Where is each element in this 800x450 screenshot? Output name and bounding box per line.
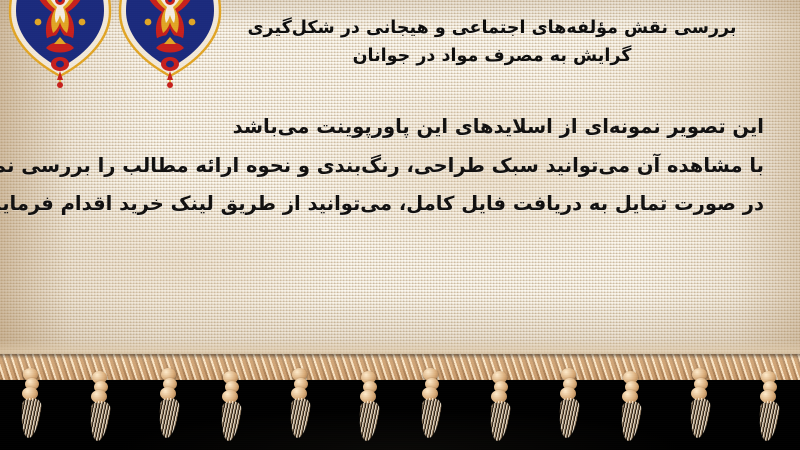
fringe-rope-band xyxy=(0,354,800,380)
slide-body-text: این تصویر نمونه‌ای از اسلایدهای این پاور… xyxy=(24,108,764,224)
fringe-tassel xyxy=(214,361,248,443)
tassel-tail xyxy=(219,400,242,442)
fringe-tassel xyxy=(752,361,786,443)
fringe-tassel xyxy=(152,358,186,440)
fringe-tassel xyxy=(414,358,448,440)
slide-title: بررسی نقش مؤلفه‌های اجتماعی و هیجانی در … xyxy=(222,14,762,71)
tassel-tail xyxy=(688,397,711,439)
tassel-tail xyxy=(557,397,580,439)
fringe-tassel xyxy=(614,361,648,443)
tassel-tail xyxy=(757,400,780,442)
tassel-tail xyxy=(88,400,111,442)
slide-title-line-1: بررسی نقش مؤلفه‌های اجتماعی و هیجانی در … xyxy=(222,14,762,42)
tassel-tail xyxy=(19,397,42,439)
fringe-tassel xyxy=(352,361,386,443)
fringe-tassel xyxy=(283,358,317,440)
body-line-2: با مشاهده آن می‌توانید سبک طراحی، رنگ‌بن… xyxy=(24,147,764,186)
body-line-3: در صورت تمایل به دریافت فایل کامل، می‌تو… xyxy=(24,185,764,224)
carpet-tassel-fringe xyxy=(0,352,800,450)
slide-canvas: بررسی نقش مؤلفه‌های اجتماعی و هیجانی در … xyxy=(0,0,800,450)
slide-title-line-2: گرایش به مصرف مواد در جوانان xyxy=(222,42,762,70)
persian-medallion-ornament-right xyxy=(118,0,222,94)
fringe-tassel xyxy=(683,358,717,440)
fringe-tassel xyxy=(83,361,117,443)
tassel-tail xyxy=(357,400,380,442)
body-line-1: این تصویر نمونه‌ای از اسلایدهای این پاور… xyxy=(24,108,764,147)
tassel-tail xyxy=(419,397,442,439)
fringe-tassel xyxy=(14,358,48,440)
tassel-tail xyxy=(288,397,311,439)
tassel-tail xyxy=(488,400,511,442)
fringe-tassel xyxy=(552,358,586,440)
tassel-tail xyxy=(619,400,642,442)
tassel-tail xyxy=(157,397,180,439)
fringe-tassel xyxy=(483,361,517,443)
persian-medallion-ornament-left xyxy=(8,0,112,94)
fringe-black-background xyxy=(0,370,800,450)
